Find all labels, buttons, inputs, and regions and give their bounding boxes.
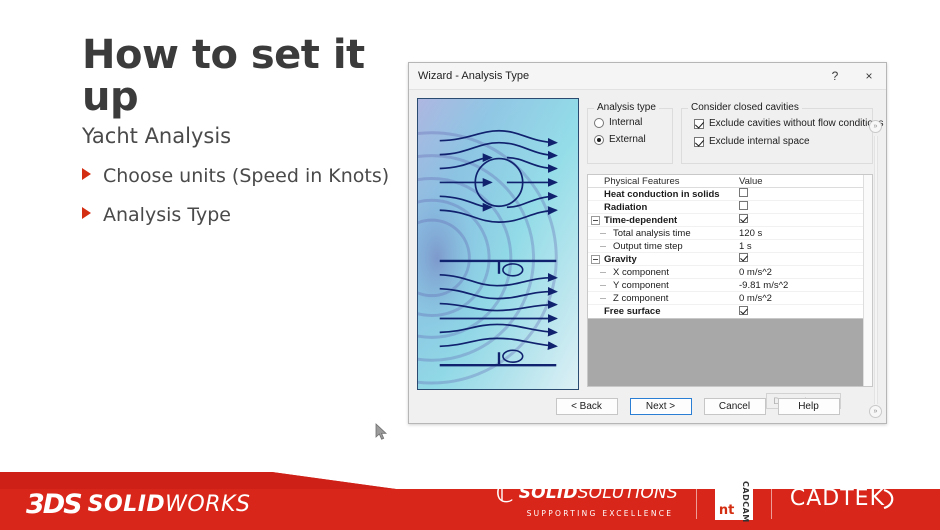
- feature-label: Output time step: [613, 241, 683, 252]
- radio-internal[interactable]: Internal: [594, 117, 672, 128]
- help-icon[interactable]: ?: [818, 63, 852, 89]
- chevron-double-right-icon[interactable]: »: [869, 405, 882, 418]
- dassault-3ds-icon: 3DS: [26, 491, 81, 518]
- partner-logos: ℂ SOLIDSOLUTIONS SUPPORTING EXCELLENCE n…: [478, 475, 916, 523]
- page-title: How to set it up: [82, 34, 402, 118]
- cavities-legend: Consider closed cavities: [688, 102, 802, 113]
- solid-solutions-bold: SOLID: [519, 483, 578, 503]
- column-header-value: Value: [739, 176, 763, 187]
- tree-collapse-icon[interactable]: [591, 255, 600, 264]
- table-row[interactable]: Gravity: [588, 253, 872, 266]
- next-button[interactable]: Next >: [630, 398, 692, 415]
- radio-icon-external[interactable]: [594, 135, 604, 145]
- table-row[interactable]: Radiation: [588, 201, 872, 214]
- radio-external[interactable]: External: [594, 134, 672, 145]
- solidworks-wordmark-light: WORKS: [165, 492, 250, 517]
- solidworks-wordmark: SOLIDWORKS: [88, 494, 251, 516]
- slide-text-column: How to set it up Yacht Analysis Choose u…: [82, 34, 402, 226]
- solidworks-logo: 3DS SOLIDWORKS: [26, 491, 250, 518]
- checkbox-icon[interactable]: [739, 306, 748, 315]
- checkbox-icon[interactable]: [739, 188, 748, 197]
- feature-value-text[interactable]: 0 m/s^2: [739, 267, 772, 278]
- mouse-cursor: [375, 423, 389, 441]
- feature-label: X component: [613, 267, 669, 278]
- feature-label: Free surface: [604, 306, 661, 317]
- feature-value-checkbox[interactable]: [739, 214, 748, 226]
- solid-solutions-row: ℂ SOLIDSOLUTIONS: [496, 481, 678, 507]
- close-icon[interactable]: ×: [852, 63, 886, 89]
- slide-footer: 3DS SOLIDWORKS ℂ SOLIDSOLUTIONS SUPPORTI…: [0, 462, 940, 530]
- consider-closed-cavities-group: Consider closed cavities Exclude cavitie…: [681, 108, 873, 164]
- flow-preview-image: [417, 98, 579, 390]
- table-row[interactable]: Free surface: [588, 305, 872, 318]
- checkbox-icon[interactable]: [739, 201, 748, 210]
- right-expand-rail: » »: [869, 116, 885, 423]
- tree-collapse-icon[interactable]: [591, 216, 600, 225]
- table-row[interactable]: Total analysis time120 s: [588, 227, 872, 240]
- bullet-label: Analysis Type: [103, 204, 231, 226]
- feature-label: Radiation: [604, 202, 647, 213]
- help-button[interactable]: Help: [778, 398, 840, 415]
- dialog-titlebar[interactable]: Wizard - Analysis Type ? ×: [409, 63, 886, 90]
- tree-line-icon: [600, 281, 609, 290]
- feature-value-checkbox[interactable]: [739, 306, 748, 318]
- table-header-row: Physical Features Value: [588, 175, 872, 188]
- checkbox-icon[interactable]: [739, 214, 748, 223]
- rail-divider: [874, 136, 878, 404]
- bullet-item-0: Choose units (Speed in Knots): [82, 165, 402, 187]
- physical-features-table: Physical Features Value Heat conduction …: [588, 175, 872, 319]
- nt-wordmark: nt: [719, 504, 734, 517]
- physical-features-panel[interactable]: Physical Features Value Heat conduction …: [587, 174, 873, 387]
- table-row[interactable]: Z component0 m/s^2: [588, 292, 872, 305]
- dialog-button-bar: < Back Next > Cancel Help: [409, 398, 886, 415]
- feature-value-checkbox[interactable]: [739, 188, 748, 200]
- tree-line-icon: [600, 294, 609, 303]
- chevron-double-right-icon[interactable]: »: [869, 120, 882, 133]
- feature-label: Heat conduction in solids: [604, 189, 720, 200]
- feature-label: Time-dependent: [604, 215, 677, 226]
- page-subtitle: Yacht Analysis: [82, 124, 402, 148]
- checkbox-icon[interactable]: [739, 253, 748, 262]
- cadtek-swoosh-icon: [882, 488, 898, 510]
- dialog-title: Wizard - Analysis Type: [418, 70, 818, 82]
- cancel-button[interactable]: Cancel: [704, 398, 766, 415]
- cadcam-wordmark: CADCAM: [741, 481, 750, 523]
- tree-line-icon: [600, 229, 609, 238]
- flow-illustration-svg: [418, 99, 578, 389]
- partner-cadtek: CADTEK: [772, 477, 916, 521]
- feature-value-text[interactable]: 0 m/s^2: [739, 293, 772, 304]
- dialog-body: Analysis type Internal External Consider…: [409, 90, 886, 423]
- tree-line-icon: [600, 242, 609, 251]
- checkbox-label-exclude-cavities: Exclude cavities without flow conditions: [709, 118, 884, 129]
- checkbox-exclude-internal-space[interactable]: Exclude internal space: [694, 136, 872, 147]
- feature-label: Gravity: [604, 254, 637, 265]
- checkbox-exclude-cavities[interactable]: Exclude cavities without flow conditions: [694, 118, 872, 129]
- partner-solid-solutions: ℂ SOLIDSOLUTIONS SUPPORTING EXCELLENCE: [478, 477, 696, 521]
- swirl-icon: ℂ: [496, 481, 514, 507]
- feature-label: Total analysis time: [613, 228, 691, 239]
- tree-line-icon: [600, 268, 609, 277]
- features-rows-container: Heat conduction in solidsRadiationTime-d…: [588, 188, 872, 318]
- radio-label-internal: Internal: [609, 117, 642, 128]
- feature-value-text[interactable]: 1 s: [739, 241, 752, 252]
- bullet-label: Choose units (Speed in Knots): [103, 165, 389, 187]
- table-row[interactable]: Heat conduction in solids: [588, 188, 872, 201]
- feature-value-checkbox[interactable]: [739, 201, 748, 213]
- column-header-physical-features: Physical Features: [604, 176, 680, 187]
- triangle-bullet-icon: [82, 168, 91, 180]
- checkbox-icon-exclude-cavities[interactable]: [694, 119, 704, 129]
- feature-value-checkbox[interactable]: [739, 253, 748, 265]
- wizard-analysis-type-dialog: Wizard - Analysis Type ? ×: [408, 62, 887, 424]
- feature-value-text[interactable]: -9.81 m/s^2: [739, 280, 788, 291]
- partner-nt-cadcam: nt CADCAM: [697, 477, 771, 521]
- solidworks-wordmark-bold: SOLID: [88, 492, 166, 517]
- radio-icon-internal[interactable]: [594, 118, 604, 128]
- checkbox-label-exclude-internal-space: Exclude internal space: [709, 136, 810, 147]
- feature-value-text[interactable]: 120 s: [739, 228, 762, 239]
- table-row[interactable]: X component0 m/s^2: [588, 266, 872, 279]
- feature-label: Y component: [613, 280, 669, 291]
- radio-label-external: External: [609, 134, 646, 145]
- table-row[interactable]: Output time step1 s: [588, 240, 872, 253]
- back-button[interactable]: < Back: [556, 398, 618, 415]
- solid-solutions-tagline: SUPPORTING EXCELLENCE: [527, 509, 674, 518]
- cadtek-wordmark: CADTEK: [790, 488, 885, 510]
- bullet-item-1: Analysis Type: [82, 204, 402, 226]
- solid-solutions-wordmark: SOLIDSOLUTIONS: [519, 485, 678, 502]
- analysis-type-group: Analysis type Internal External: [587, 108, 673, 164]
- analysis-type-legend: Analysis type: [594, 102, 659, 113]
- table-row[interactable]: Time-dependent: [588, 214, 872, 227]
- feature-label: Z component: [613, 293, 668, 304]
- checkbox-icon-exclude-internal-space[interactable]: [694, 137, 704, 147]
- nt-cadcam-logo-box: nt CADCAM: [715, 478, 753, 520]
- solid-solutions-light: SOLUTIONS: [578, 483, 678, 503]
- table-row[interactable]: Y component-9.81 m/s^2: [588, 279, 872, 292]
- triangle-bullet-icon: [82, 207, 91, 219]
